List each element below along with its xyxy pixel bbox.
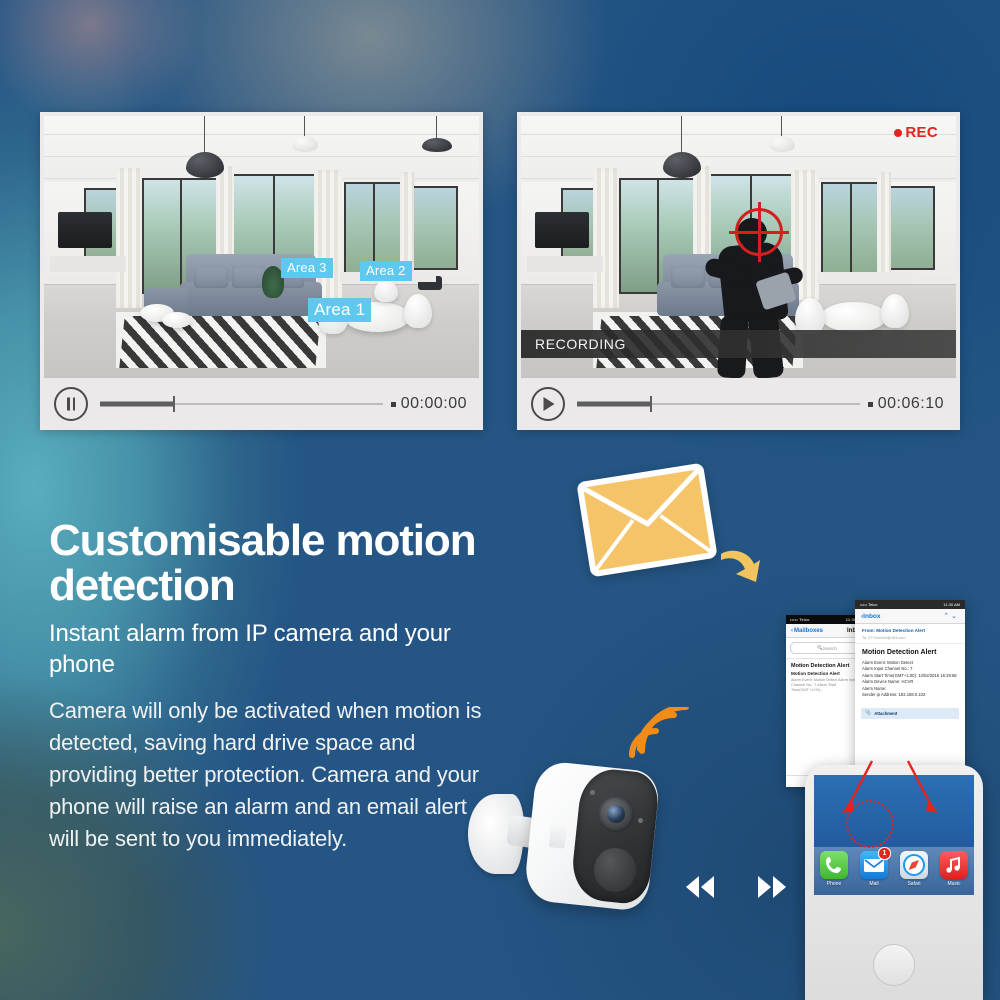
dock-label-music: Music (939, 881, 969, 887)
mail-badge: 1 (878, 847, 891, 860)
player-controls-left[interactable]: 00:00:00 (40, 378, 483, 430)
recording-banner: RECORDING (521, 330, 956, 358)
curtain-left (116, 168, 142, 308)
status-bar-detail: ••••• Telco 11:30 AM (855, 600, 965, 609)
camera-pir-sensor (594, 848, 636, 892)
detail-navbar: ‹Inbox ⌃⌄ (855, 609, 965, 624)
email-subject: Motion Detection Alert (791, 671, 863, 676)
fast-forward-icon[interactable] (758, 876, 792, 898)
pendant-lamp-light (292, 136, 318, 152)
carrier-label: ••••• Telco (790, 618, 810, 622)
dock-app-mail[interactable]: 1 Mail (859, 851, 889, 887)
pendant-lamp-dark (186, 152, 224, 178)
camera-feed-left: Area 3 Area 2 Area 1 (44, 116, 479, 378)
poster-canvas: Area 3 Area 2 Area 1 00:00:00 (0, 0, 1000, 1000)
to-line: To: 277444444@163.com (862, 636, 958, 640)
home-button[interactable] (873, 944, 915, 986)
curtain-left-2 (593, 168, 619, 308)
coffee-table-tiny (162, 312, 192, 328)
chevron-left-icon: ‹ (791, 628, 793, 634)
safari-icon (900, 851, 928, 879)
window-right-2 (821, 182, 879, 274)
back-button[interactable]: ‹ Mailboxes (791, 628, 823, 634)
paperclip-icon: 📎 (865, 710, 871, 716)
timecode-value-2: 00:06:10 (878, 395, 944, 413)
camera-feed-right: REC RECORDING (521, 116, 956, 378)
back-to-inbox-button[interactable]: ‹Inbox (861, 613, 881, 620)
rec-indicator: REC (894, 124, 938, 141)
mail-icon: 1 (860, 851, 888, 879)
tv-stand-2 (527, 256, 603, 272)
transport-controls[interactable] (686, 876, 796, 902)
message-nav-chevrons-icon[interactable]: ⌃⌄ (943, 612, 959, 620)
stop-square-icon-2 (868, 402, 873, 407)
message-meta: From: Motion Detection Alert To: 2774444… (855, 624, 965, 644)
curved-arrow-icon (718, 548, 764, 590)
chair-2 (404, 294, 432, 328)
search-placeholder: Search (823, 646, 837, 651)
timecode-left: 00:00:00 (391, 395, 483, 413)
timecode-right: 00:06:10 (868, 395, 960, 413)
curtain-far-2 (877, 172, 891, 282)
carrier-label-detail: ••••• Telco (860, 602, 877, 607)
video-player-right[interactable]: REC RECORDING 00:06:10 (517, 112, 960, 430)
chair-2b (881, 294, 909, 328)
curtain-right (314, 170, 342, 300)
stop-square-icon (391, 402, 396, 407)
chair-3 (374, 280, 398, 302)
wifi-signal-icon (628, 707, 690, 759)
timecode-value: 00:00:00 (401, 395, 467, 413)
patterned-rug (119, 316, 320, 368)
message-title: Motion Detection Alert (862, 649, 958, 656)
dock-label-mail: Mail (859, 881, 889, 887)
video-player-left[interactable]: Area 3 Area 2 Area 1 00:00:00 (40, 112, 483, 430)
area-tag-2[interactable]: Area 2 (360, 261, 412, 281)
progress-slider-left[interactable] (100, 397, 383, 411)
dock-label-safari: Safari (899, 881, 929, 887)
page-subtitle: Instant alarm from IP camera and your ph… (49, 619, 519, 680)
email-sender: Motion Detection Alert (791, 663, 863, 669)
progress-slider-right[interactable] (577, 397, 860, 411)
wireless-security-camera (468, 760, 668, 920)
music-icon (940, 851, 968, 879)
window-far-right-2 (889, 186, 935, 270)
dining-table-2 (821, 302, 887, 332)
highlight-ring (846, 800, 894, 848)
recording-label: RECORDING (521, 336, 626, 352)
alarm-row-5: Sender ip Address: 192.168.0.102 (862, 692, 958, 699)
kitchen-counter-2 (817, 272, 913, 282)
body-paragraph: Camera will only be activated when motio… (49, 695, 499, 854)
window-far-right (412, 186, 458, 270)
clock-label-detail: 11:30 AM (943, 602, 960, 607)
dock-app-safari[interactable]: Safari (899, 851, 929, 887)
camera-side-tab (549, 821, 568, 849)
television-2 (535, 212, 589, 248)
ios-dock[interactable]: Phone 1 Mail Safari (814, 847, 974, 895)
email-preview: Alarm Event: Motion Detect Alarm Input C… (791, 678, 863, 693)
attachment-chip[interactable]: 📎 Attachment (861, 708, 959, 719)
play-icon[interactable] (531, 387, 565, 421)
pause-icon[interactable] (54, 387, 88, 421)
page-title: Customisable motion detection (49, 519, 529, 609)
rec-label: REC (905, 124, 938, 141)
back-label: Mailboxes (794, 628, 823, 634)
dock-app-phone[interactable]: Phone (819, 851, 849, 887)
rewind-icon[interactable] (686, 876, 720, 898)
back-to-inbox-label: Inbox (863, 613, 880, 620)
television (58, 212, 112, 248)
phone-icon (820, 851, 848, 879)
record-dot-icon (894, 129, 902, 137)
attachment-label: Attachment (874, 711, 897, 716)
room-scene (44, 116, 479, 378)
message-body: Motion Detection Alert Alarm Event: Moti… (855, 644, 965, 704)
search-input[interactable]: 🔍 Search (790, 642, 864, 654)
player-controls-right[interactable]: 00:06:10 (517, 378, 960, 430)
dock-app-music[interactable]: Music (939, 851, 969, 887)
pendant-lamp-dark-2 (422, 138, 452, 152)
pendant-lamp-dark-3 (663, 152, 701, 178)
envelope-icon (576, 463, 717, 578)
camera-ir-led-2 (638, 818, 643, 823)
area-tag-3[interactable]: Area 3 (281, 258, 333, 278)
tv-stand (50, 256, 126, 272)
dock-label-phone: Phone (819, 881, 849, 887)
envelope-svg (576, 463, 717, 578)
camera-ir-led-1 (590, 790, 595, 795)
from-line: From: Motion Detection Alert (862, 628, 958, 634)
detection-crosshair-icon (735, 208, 783, 256)
pendant-lamp-light-2 (769, 136, 795, 152)
camera-lens (607, 805, 625, 823)
area-tag-1[interactable]: Area 1 (308, 298, 371, 322)
